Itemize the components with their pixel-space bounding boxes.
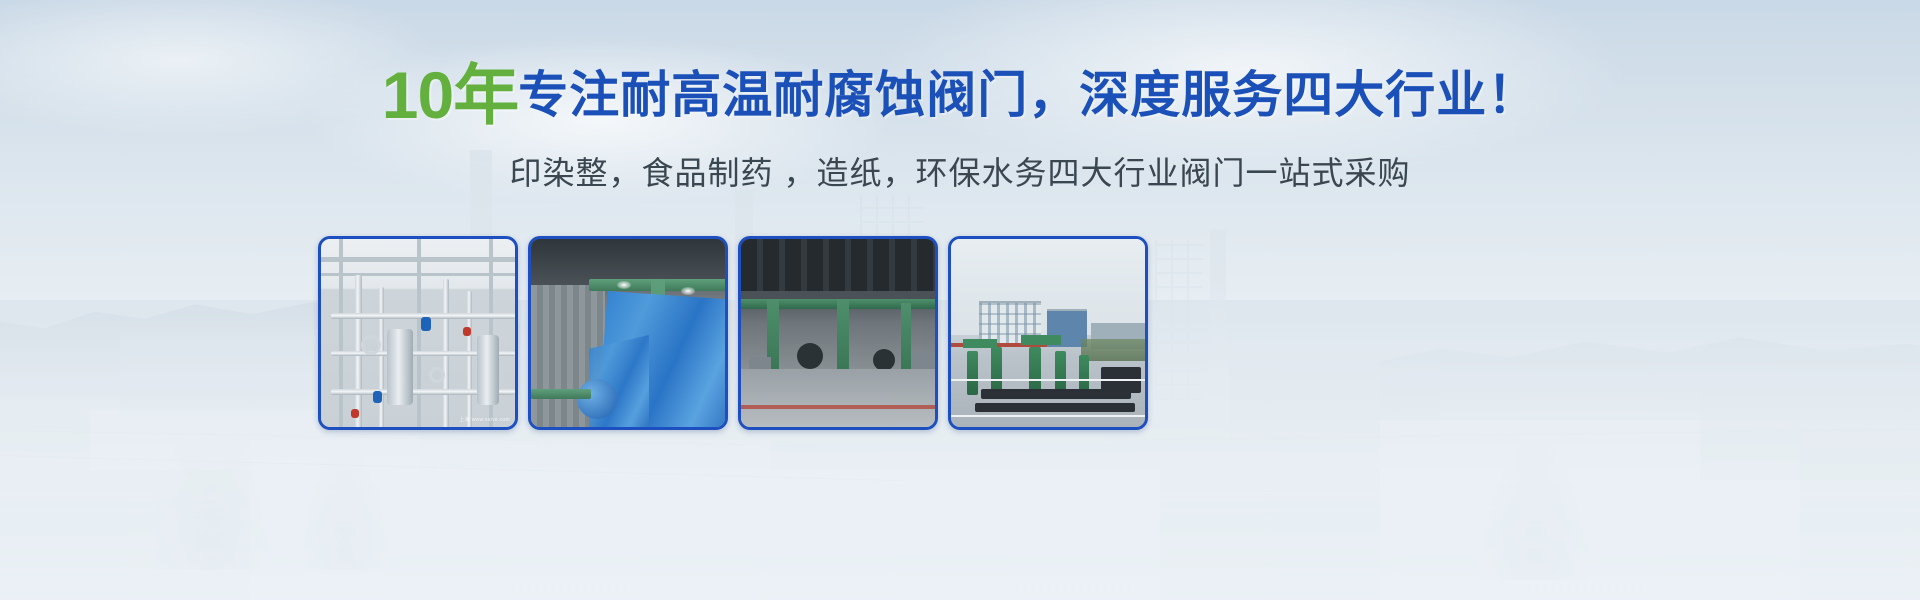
headline-main: 专注耐高温耐腐蚀阀门，深度服务四大行业！ [518, 67, 1538, 123]
banner-headline: 10年专注耐高温耐腐蚀阀门，深度服务四大行业！ [0, 62, 1920, 128]
photo-stainless-pipework: 上海 www.valve.com [321, 239, 515, 427]
thumbnail-water-treatment-plant[interactable] [948, 236, 1148, 430]
background-bottom-fade [0, 480, 1920, 600]
thumbnail-blue-fabric-dyeing-line[interactable] [528, 236, 728, 430]
headline-years: 10年 [382, 58, 518, 132]
thumbnail-strip: 上海 www.valve.com [318, 236, 1148, 430]
photo-watermark: 上海 www.valve.com [459, 416, 510, 423]
thumbnail-stainless-pipework-plant[interactable]: 上海 www.valve.com [318, 236, 518, 430]
photo-paper-mill-hall [741, 239, 935, 427]
photo-blue-fabric-line [531, 239, 725, 427]
photo-water-treatment-plant [951, 239, 1145, 427]
banner-subtitle: 印染整，食品制药 ，造纸，环保水务四大行业阀门一站式采购 [0, 148, 1920, 194]
hero-banner: 10年专注耐高温耐腐蚀阀门，深度服务四大行业！ 印染整，食品制药 ，造纸，环保水… [0, 0, 1920, 600]
thumbnail-paper-mill-hall[interactable] [738, 236, 938, 430]
